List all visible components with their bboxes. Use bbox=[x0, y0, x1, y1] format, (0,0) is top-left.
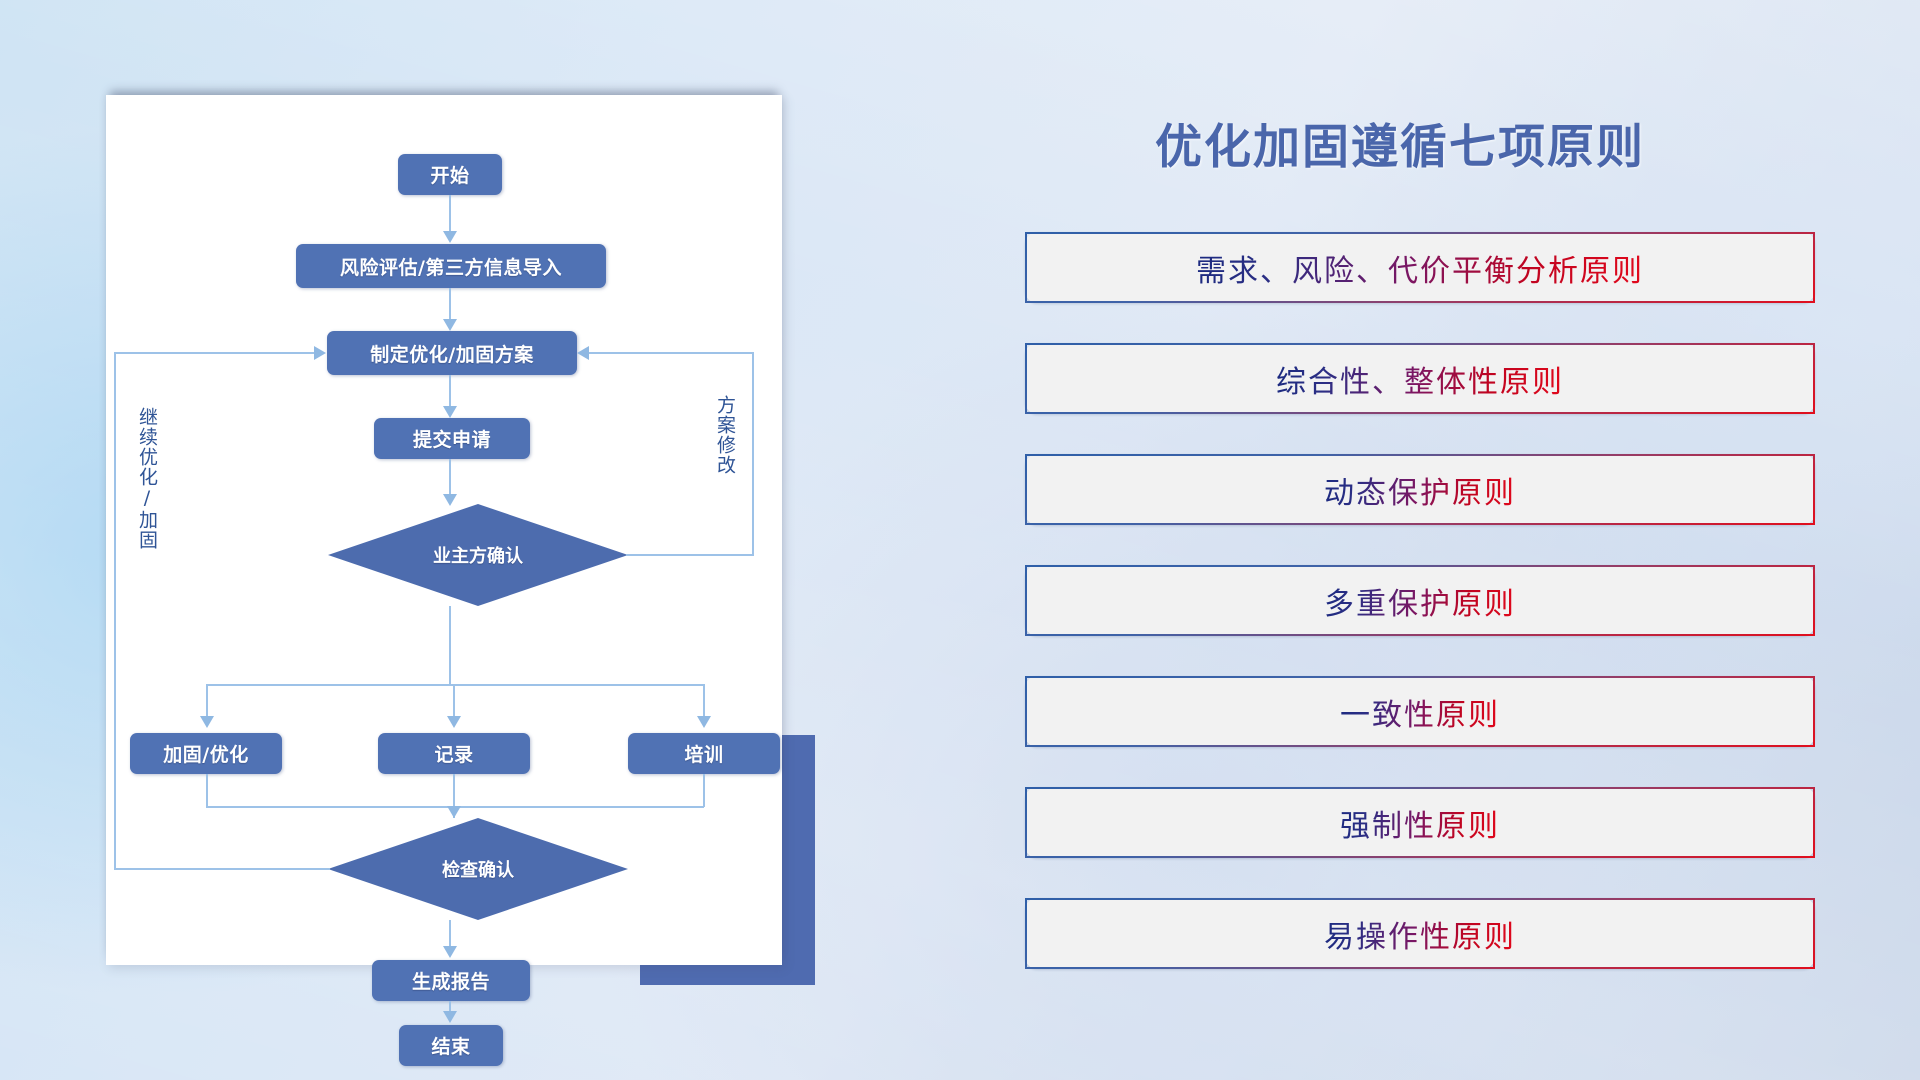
flow-node-report[interactable]: 生成报告 bbox=[372, 960, 530, 1001]
flow-node-reinforce[interactable]: 加固/优化 bbox=[130, 733, 282, 774]
connector-plan-to-submit bbox=[449, 375, 451, 408]
flowchart-canvas: 开始 风险评估/第三方信息导入 制定优化/加固方案 提交申请 业主方确认 加固/… bbox=[106, 95, 782, 965]
connector-record-to-merge bbox=[453, 774, 455, 807]
connector-bus-to-training bbox=[703, 684, 705, 718]
principle-item-6[interactable]: 强制性原则 bbox=[1025, 787, 1815, 858]
connector-check-to-report bbox=[449, 920, 451, 948]
principle-item-7-label: 易操作性原则 bbox=[1324, 912, 1516, 956]
arrow-left-loop-into-plan bbox=[314, 346, 326, 360]
flow-node-check-confirm-label: 检查确认 bbox=[442, 856, 514, 882]
connector-start-to-risk bbox=[449, 195, 451, 233]
principles-panel-title: 优化加固遵循七项原则 bbox=[1155, 108, 1855, 177]
principle-item-4[interactable]: 多重保护原则 bbox=[1025, 565, 1815, 636]
connector-submit-to-owner bbox=[449, 459, 451, 496]
principle-item-4-label: 多重保护原则 bbox=[1324, 579, 1516, 623]
connector-left-loop-top bbox=[114, 352, 316, 354]
flow-node-end-label: 结束 bbox=[431, 1032, 470, 1059]
principle-item-1-label: 需求、风险、代价平衡分析原则 bbox=[1196, 246, 1644, 290]
flowchart-card: 开始 风险评估/第三方信息导入 制定优化/加固方案 提交申请 业主方确认 加固/… bbox=[106, 95, 782, 965]
principles-list: 需求、风险、代价平衡分析原则 综合性、整体性原则 动态保护原则 多重保护原则 一… bbox=[1025, 232, 1815, 1009]
flow-node-owner-confirm-label: 业主方确认 bbox=[433, 542, 523, 568]
edge-label-plan-revision: 方案修改 bbox=[714, 395, 734, 475]
flow-node-report-label: 生成报告 bbox=[412, 967, 490, 994]
connector-left-loop-bottom bbox=[114, 868, 330, 870]
connector-right-loop-vertical bbox=[752, 352, 754, 556]
principle-item-3-label: 动态保护原则 bbox=[1324, 468, 1516, 512]
principle-item-1[interactable]: 需求、风险、代价平衡分析原则 bbox=[1025, 232, 1815, 303]
flow-node-plan-label: 制定优化/加固方案 bbox=[370, 340, 533, 367]
connector-right-loop-bottom bbox=[626, 554, 754, 556]
principle-item-2-label: 综合性、整体性原则 bbox=[1276, 357, 1564, 401]
arrow-merge-to-check bbox=[447, 806, 461, 818]
flow-node-record-label: 记录 bbox=[434, 740, 473, 767]
principle-item-5-label: 一致性原则 bbox=[1340, 690, 1500, 734]
flow-node-submit[interactable]: 提交申请 bbox=[374, 418, 530, 459]
arrow-submit-to-owner bbox=[443, 494, 457, 506]
principle-item-6-label: 强制性原则 bbox=[1340, 801, 1500, 845]
connector-training-to-merge bbox=[703, 774, 705, 807]
flow-node-owner-confirm[interactable]: 业主方确认 bbox=[328, 504, 628, 606]
arrow-start-to-risk bbox=[443, 231, 457, 243]
flow-node-start[interactable]: 开始 bbox=[398, 154, 502, 195]
arrow-bus-to-record bbox=[447, 716, 461, 728]
flow-node-submit-label: 提交申请 bbox=[413, 425, 491, 452]
connector-right-loop-top bbox=[589, 352, 754, 354]
principle-item-7[interactable]: 易操作性原则 bbox=[1025, 898, 1815, 969]
flow-node-check-confirm[interactable]: 检查确认 bbox=[328, 818, 628, 920]
flow-node-training-label: 培训 bbox=[684, 740, 723, 767]
connector-reinforce-to-merge bbox=[206, 774, 208, 807]
flow-node-training[interactable]: 培训 bbox=[628, 733, 780, 774]
principle-item-5[interactable]: 一致性原则 bbox=[1025, 676, 1815, 747]
slide-root: 开始 风险评估/第三方信息导入 制定优化/加固方案 提交申请 业主方确认 加固/… bbox=[0, 0, 1920, 1080]
flow-node-end[interactable]: 结束 bbox=[399, 1025, 503, 1066]
principle-item-3[interactable]: 动态保护原则 bbox=[1025, 454, 1815, 525]
flow-node-risk-assessment[interactable]: 风险评估/第三方信息导入 bbox=[296, 244, 606, 288]
edge-label-continue-optimize: 继续优化/加固 bbox=[136, 407, 156, 550]
flow-node-start-label: 开始 bbox=[430, 161, 469, 188]
arrow-bus-to-training bbox=[697, 716, 711, 728]
arrow-plan-to-submit bbox=[443, 406, 457, 418]
flow-node-record[interactable]: 记录 bbox=[378, 733, 530, 774]
flow-node-plan[interactable]: 制定优化/加固方案 bbox=[327, 331, 577, 375]
flow-node-reinforce-label: 加固/优化 bbox=[163, 740, 248, 767]
arrow-right-loop-into-plan bbox=[577, 346, 589, 360]
flow-node-risk-assessment-label: 风险评估/第三方信息导入 bbox=[340, 253, 562, 280]
connector-owner-to-bus bbox=[449, 606, 451, 685]
connector-bus-to-record bbox=[453, 684, 455, 718]
arrow-risk-to-plan bbox=[443, 319, 457, 331]
connector-left-loop-vertical bbox=[114, 352, 116, 869]
arrow-report-to-end bbox=[443, 1011, 457, 1023]
principle-item-2[interactable]: 综合性、整体性原则 bbox=[1025, 343, 1815, 414]
arrow-check-to-report bbox=[443, 946, 457, 958]
arrow-bus-to-reinforce bbox=[200, 716, 214, 728]
connector-bus-to-reinforce bbox=[206, 684, 208, 718]
connector-risk-to-plan bbox=[449, 288, 451, 321]
connector-branch-bus bbox=[206, 684, 704, 686]
